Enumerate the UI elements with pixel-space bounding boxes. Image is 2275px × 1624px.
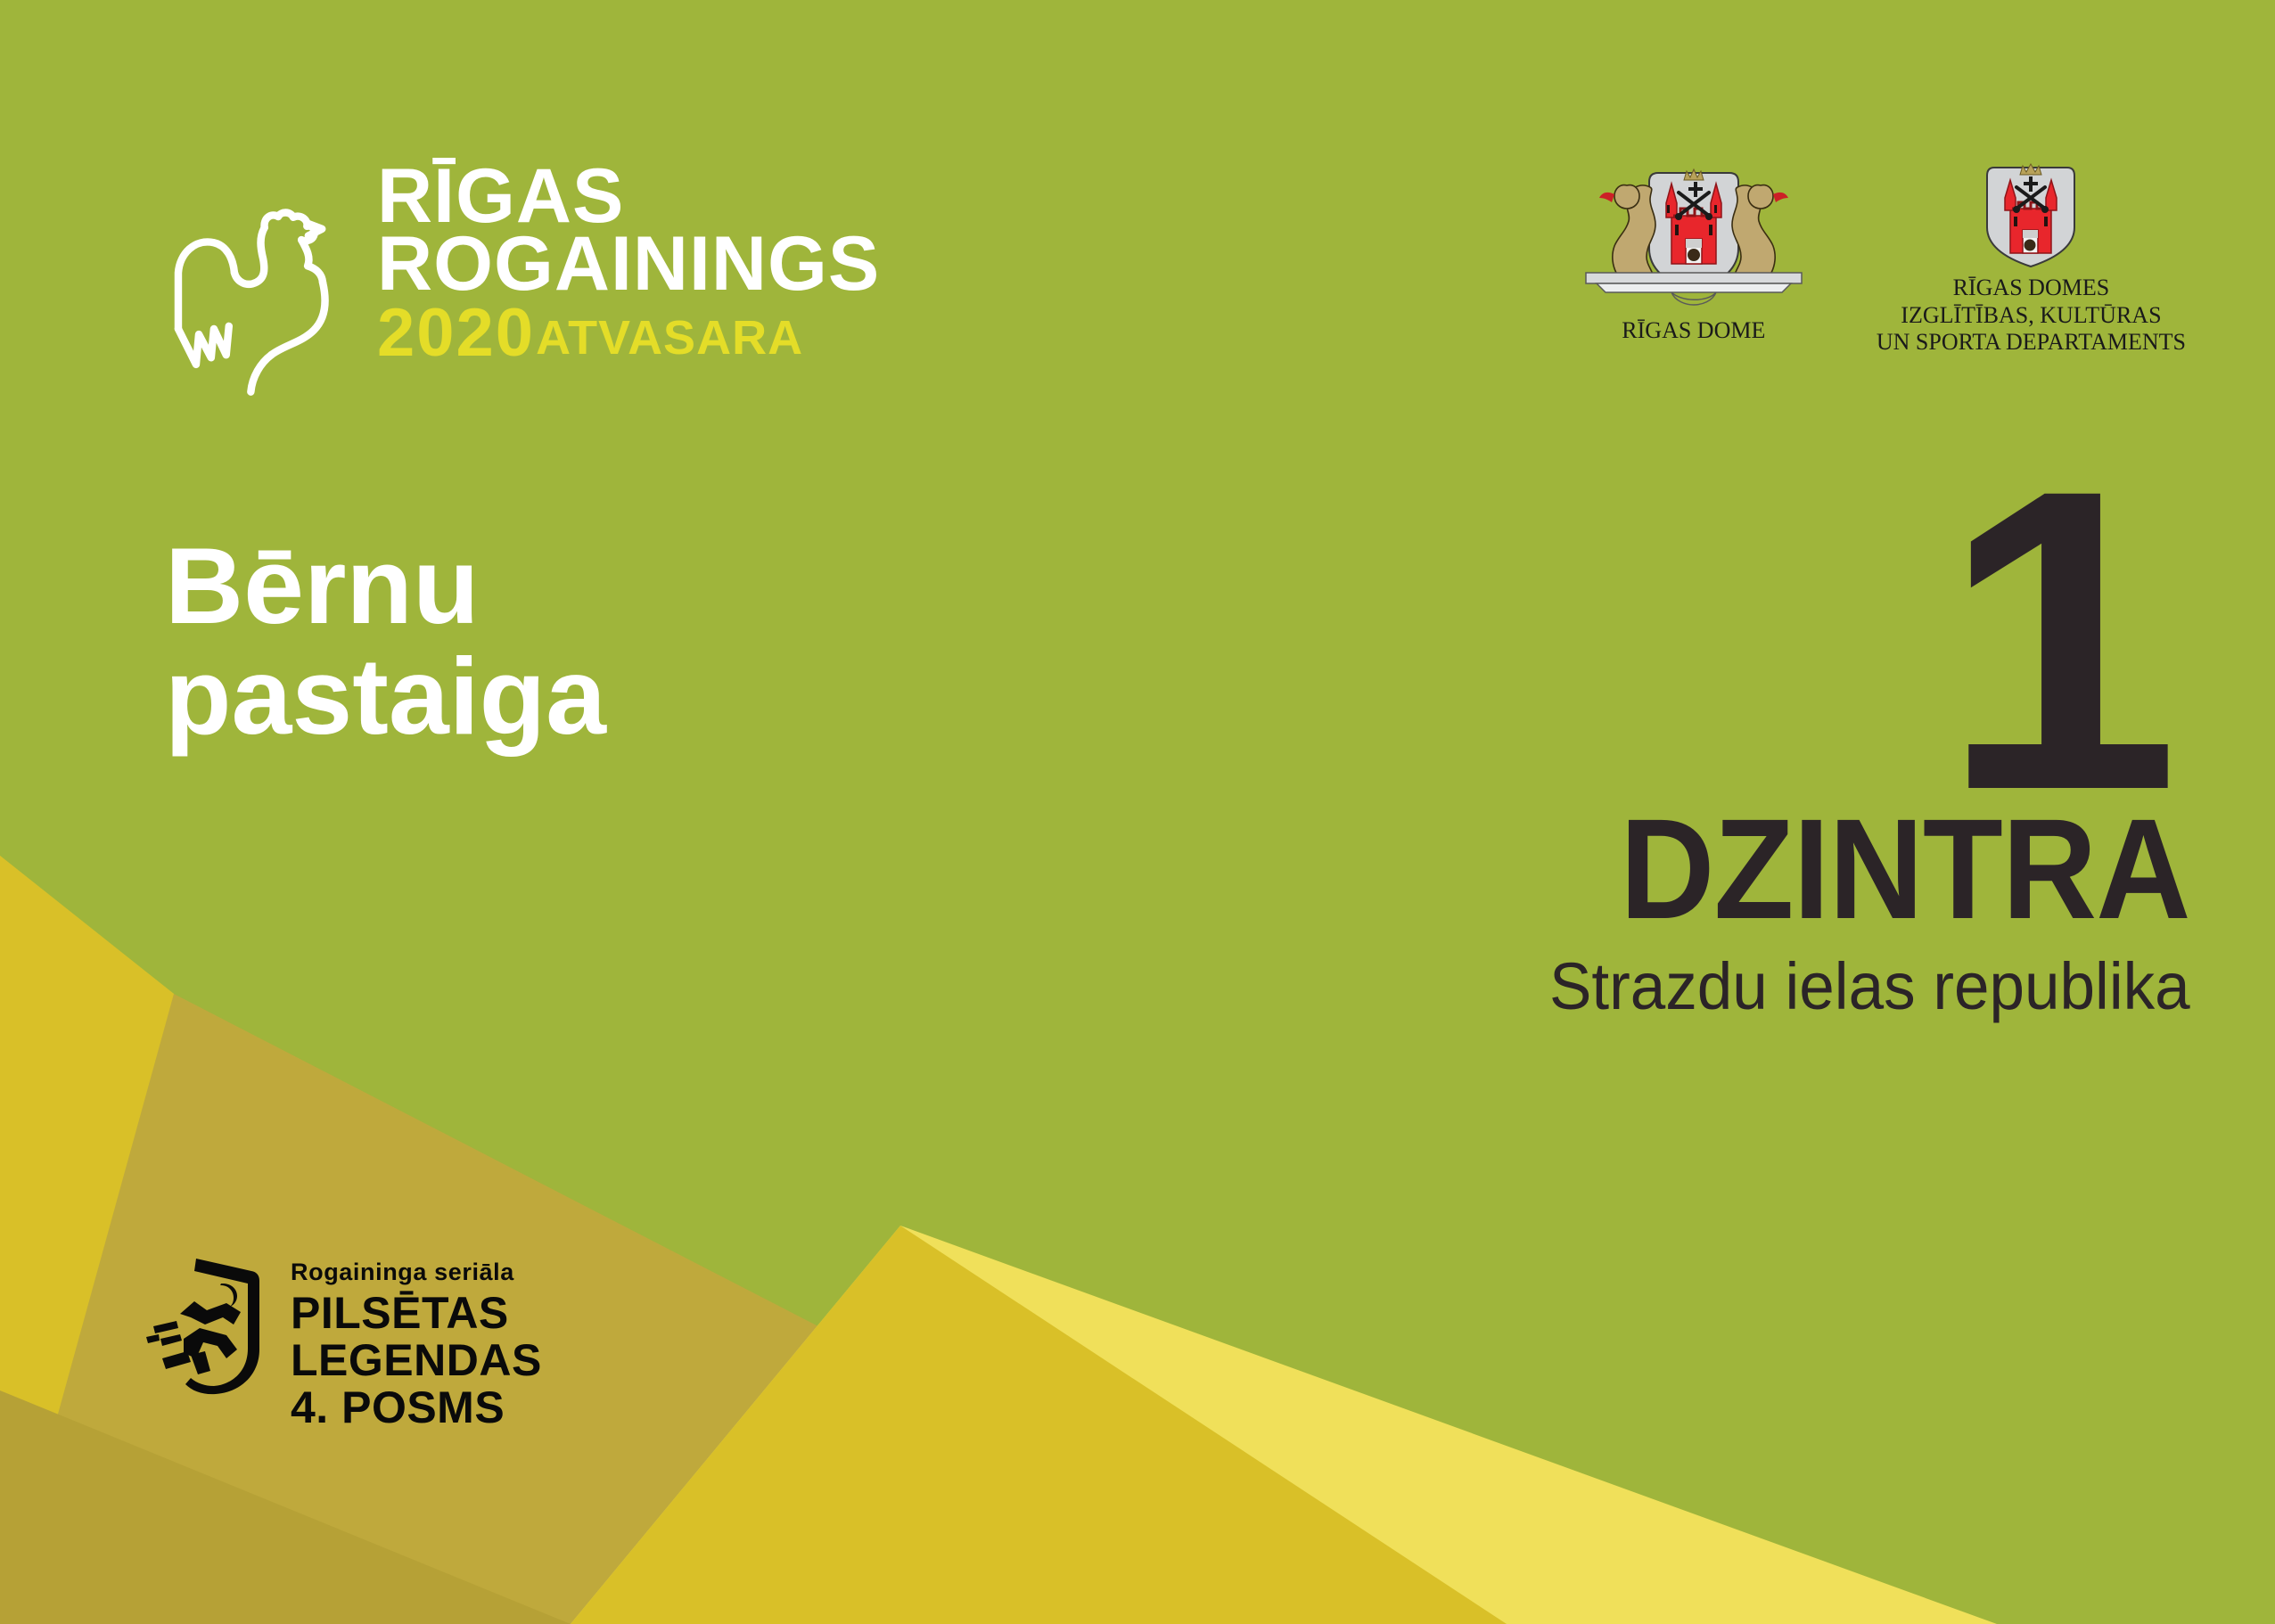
checkpoint-name: DZINTRA bbox=[1576, 803, 2190, 934]
dept-caption-line-2: IZGLĪTĪBAS, KULTŪRAS bbox=[1901, 302, 2161, 328]
headline-line-1: Bērnu bbox=[165, 530, 606, 641]
sponsor-caption-riga-dome: RĪGAS DOME bbox=[1622, 317, 1765, 345]
dept-caption-line-1: RĪGAS DOMES bbox=[1953, 275, 2110, 300]
series-line-1: PILSĒTAS bbox=[291, 1290, 542, 1337]
sponsor-riga-dome: RĪGAS DOME bbox=[1573, 160, 1814, 345]
page-title: Bērnu pastaiga bbox=[165, 530, 606, 752]
checkpoint-block: 1 DZINTRA Strazdu ielas republika bbox=[1523, 486, 2190, 1020]
mid-yellow-triangle bbox=[571, 1226, 1507, 1624]
dept-caption-line-3: UN SPORTA DEPARTAMENTS bbox=[1877, 329, 2186, 355]
sponsor-education-department: RĪGAS DOMES IZGLĪTĪBAS, KULTŪRAS UN SPOR… bbox=[1877, 160, 2186, 357]
logo-year: 2020 bbox=[377, 303, 535, 364]
rooster-icon bbox=[160, 156, 352, 428]
riga-city-coat-of-arms-icon bbox=[1573, 160, 1814, 312]
series-logo-text: Rogaininga seriāla PILSĒTAS LEGENDAS 4. … bbox=[291, 1259, 542, 1431]
series-kicker: Rogaininga seriāla bbox=[291, 1259, 542, 1286]
logo-line-rogainings: ROGAININGS bbox=[377, 231, 880, 299]
light-yellow-triangle bbox=[571, 1226, 1997, 1624]
checkpoint-number: 1 bbox=[1523, 486, 2174, 794]
running-figure-icon bbox=[141, 1248, 275, 1404]
riga-department-coat-of-arms-icon bbox=[1973, 160, 2089, 269]
event-logo: RĪGAS ROGAININGS 2020 ATVASARA bbox=[160, 156, 880, 428]
event-logo-text: RĪGAS ROGAININGS 2020 ATVASARA bbox=[377, 163, 880, 365]
poster-canvas: RĪGAS ROGAININGS 2020 ATVASARA Bērnu pas… bbox=[0, 0, 2275, 1624]
yellow-wedge-top bbox=[0, 856, 174, 1624]
series-logo: Rogaininga seriāla PILSĒTAS LEGENDAS 4. … bbox=[141, 1248, 542, 1431]
series-line-2: LEGENDAS bbox=[291, 1337, 542, 1384]
logo-season: ATVASARA bbox=[536, 314, 803, 362]
logo-line-year-season: 2020 ATVASARA bbox=[377, 303, 880, 364]
yellow-wedge bbox=[0, 856, 174, 1624]
series-line-3: 4. POSMS bbox=[291, 1384, 542, 1431]
headline-line-2: pastaiga bbox=[165, 641, 606, 751]
sponsor-caption-department: RĪGAS DOMES IZGLĪTĪBAS, KULTŪRAS UN SPOR… bbox=[1877, 275, 2186, 357]
checkpoint-subtitle: Strazdu ielas republika bbox=[1549, 954, 2190, 1020]
sponsor-logos: RĪGAS DOME bbox=[1573, 160, 2186, 357]
